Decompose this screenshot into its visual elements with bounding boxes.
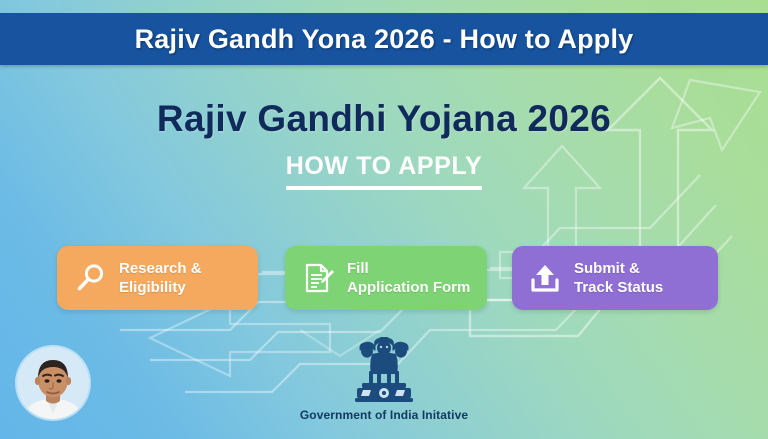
step-card-label: Research & Eligibility xyxy=(119,259,202,297)
step-card-research-eligibility[interactable]: Research & Eligibility xyxy=(57,246,258,310)
upload-icon xyxy=(526,259,564,297)
step-card-fill-application-form[interactable]: Fill Application Form xyxy=(285,246,487,310)
ashoka-lion-capital-emblem-icon xyxy=(345,336,423,406)
page-subtitle: HOW TO APPLY xyxy=(286,152,483,190)
page-title: Rajiv Gandhi Yojana 2026 xyxy=(0,98,768,140)
page-subtitle-wrap: HOW TO APPLY xyxy=(0,152,768,190)
title-bar-text: Rajiv Gandh Yona 2026 - How to Apply xyxy=(135,24,634,55)
step-card-label: Submit & Track Status xyxy=(574,259,663,297)
magnifier-icon xyxy=(71,259,109,297)
avatar xyxy=(17,347,89,419)
left-arrow-outline-icon xyxy=(150,300,330,376)
step-card-label: Fill Application Form xyxy=(347,259,470,297)
title-bar: Rajiv Gandh Yona 2026 - How to Apply xyxy=(0,13,768,65)
promotional-banner: Rajiv Gandh Yona 2026 - How to Apply Raj… xyxy=(0,0,768,439)
document-pencil-icon xyxy=(299,259,337,297)
step-card-submit-track-status[interactable]: Submit & Track Status xyxy=(512,246,718,310)
emblem-caption: Government of India Initative xyxy=(244,408,524,422)
